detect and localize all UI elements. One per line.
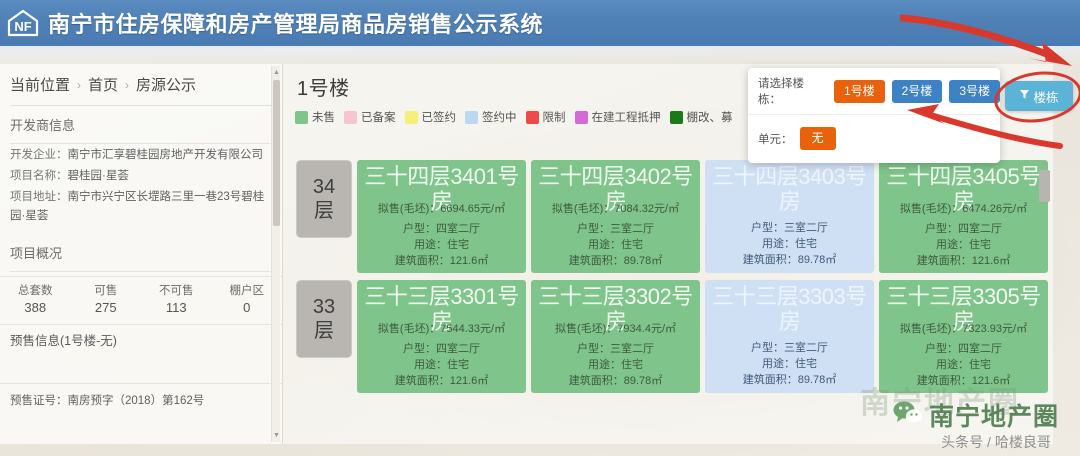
unit-area-3405: 建筑面积：121.6㎡ — [882, 253, 1045, 269]
unit-layout-3302: 户型：三室二厅 — [534, 341, 697, 357]
unit-grid: 34 层 三十四层3401号房 拟售(毛坯)：6694.65元/㎡ 户型：四室二… — [283, 160, 1053, 428]
legend-item-recorded: 已备案 — [344, 109, 396, 125]
presale-section-title: 预售信息(1号楼-无) — [0, 325, 282, 351]
unit-cell-3305[interactable]: 三十三层3305号房 拟售(毛坯)：7323.93元/㎡ 户型：四室二厅 用途：… — [879, 280, 1048, 393]
stat-total-value: 388 — [0, 299, 71, 317]
unit-area-3303: 建筑面积：89.78㎡ — [708, 372, 871, 388]
stat-available: 可售 275 — [71, 283, 142, 317]
site-title: 南宁市住房保障和房产管理局商品房销售公示系统 — [48, 7, 543, 39]
unit-price-3301: 拟售(毛坯)：7544.33元/㎡ — [360, 321, 523, 337]
legend-item-shantytown: 棚改、募 — [670, 109, 733, 125]
floor-row-33: 33 层 三十三层3301号房 拟售(毛坯)：7544.33元/㎡ 户型：四室二… — [283, 280, 1053, 393]
grid-scrollbar[interactable]: ▲ — [1039, 160, 1050, 428]
building-option-1[interactable]: 1号楼 — [834, 80, 885, 103]
presale-certificate: 预售证号：南房预字（2018）第162号 — [0, 383, 282, 408]
legend-swatch-contracted — [405, 111, 418, 124]
floor-label-34-number: 34 — [313, 175, 335, 199]
unit-layout-3403: 户型：三室二厅 — [708, 220, 871, 236]
breadcrumb: 当前位置 › 首页 › 房源公示 — [10, 64, 272, 106]
unit-layout-3301: 户型：四室二厅 — [360, 341, 523, 357]
building-option-2[interactable]: 2号楼 — [892, 80, 943, 103]
legend-swatch-recorded — [344, 111, 357, 124]
site-logo-icon: NF — [6, 8, 40, 38]
breadcrumb-separator-2: › — [125, 78, 129, 92]
floor-label-33-number: 33 — [313, 295, 335, 319]
stat-total-label: 总套数 — [0, 283, 71, 299]
legend-item-contracting: 签约中 — [465, 109, 517, 125]
legend-swatch-shantytown — [670, 111, 683, 124]
building-select-row: 请选择楼栋： 1号楼 2号楼 3号楼 — [748, 68, 1000, 115]
stat-unavailable-value: 113 — [141, 299, 212, 317]
unit-cell-3405[interactable]: 三十四层3405号房 拟售(毛坯)：6474.26元/㎡ 户型：四室二厅 用途：… — [879, 160, 1048, 273]
unit-usage-3302: 用途：住宅 — [534, 357, 697, 373]
unit-usage-3405: 用途：住宅 — [882, 237, 1045, 253]
developer-field-project: 项目名称：碧桂园·星荟 — [0, 165, 282, 186]
breadcrumb-separator-1: › — [77, 78, 81, 92]
unit-layout-3402: 户型：三室二厅 — [534, 221, 697, 237]
developer-field-address: 项目地址：南宁市兴宁区长堽路三里一巷23号碧桂园·星荟 — [0, 186, 282, 226]
developer-field-company-value: 南宁市汇享碧桂园房地产开发有限公司 — [68, 149, 264, 161]
unit-usage-3403: 用途：住宅 — [708, 236, 871, 252]
developer-field-project-value: 碧桂园·星荟 — [68, 170, 129, 182]
legend-swatch-restricted — [526, 111, 539, 124]
legend-label-contracting: 签约中 — [482, 109, 517, 125]
unit-usage-3305: 用途：住宅 — [882, 357, 1045, 373]
unit-price-3405: 拟售(毛坯)：6474.26元/㎡ — [882, 201, 1045, 217]
building-selector-popup: 请选择楼栋： 1号楼 2号楼 3号楼 单元： 无 — [748, 68, 1000, 163]
unit-option-none[interactable]: 无 — [800, 127, 836, 150]
grid-scroll-thumb[interactable] — [1039, 170, 1050, 202]
floor-label-33-unit: 层 — [314, 319, 334, 343]
legend-item-restricted: 限制 — [526, 109, 566, 125]
legend-swatch-unsold — [295, 111, 308, 124]
unit-select-row: 单元： 无 — [748, 115, 1000, 162]
developer-field-project-key: 项目名称： — [10, 170, 68, 182]
unit-cell-3303[interactable]: 三十三层3303号房 户型：三室二厅 用途：住宅 建筑面积：89.78㎡ — [705, 280, 874, 393]
developer-field-address-key: 项目地址： — [10, 191, 68, 203]
legend-swatch-mortgaged — [575, 111, 588, 124]
funnel-icon — [1019, 89, 1030, 103]
svg-text:NF: NF — [14, 19, 31, 34]
header-fade — [0, 46, 1080, 64]
stat-unavailable-label: 不可售 — [141, 283, 212, 299]
presale-section: 预售信息(1号楼-无) — [0, 325, 282, 383]
left-scroll-up-icon[interactable]: ▲ — [273, 68, 280, 77]
unit-price-3305: 拟售(毛坯)：7323.93元/㎡ — [882, 321, 1045, 337]
unit-cell-3403[interactable]: 三十四层3403号房 户型：三室二厅 用途：住宅 建筑面积：89.78㎡ — [705, 160, 874, 273]
unit-layout-3401: 户型：四室二厅 — [360, 221, 523, 237]
project-stats: 总套数 388 可售 275 不可售 113 棚户区 0 — [0, 276, 282, 325]
unit-area-3401: 建筑面积：121.6㎡ — [360, 253, 523, 269]
legend-label-contracted: 已签约 — [422, 109, 457, 125]
developer-field-company-key: 开发企业： — [10, 149, 68, 161]
legend-label-mortgaged: 在建工程抵押 — [592, 109, 661, 125]
unit-usage-3401: 用途：住宅 — [360, 237, 523, 253]
unit-area-3403: 建筑面积：89.78㎡ — [708, 252, 871, 268]
unit-price-3401: 拟售(毛坯)：6694.65元/㎡ — [360, 201, 523, 217]
stat-total: 总套数 388 — [0, 283, 71, 317]
overview-section-title: 项目概况 — [10, 234, 272, 272]
unit-layout-3303: 户型：三室二厅 — [708, 340, 871, 356]
unit-layout-3405: 户型：四室二厅 — [882, 221, 1045, 237]
legend-item-contracted: 已签约 — [405, 109, 457, 125]
building-filter-label: 楼栋 — [1033, 87, 1058, 106]
site-header: NF 南宁市住房保障和房产管理局商品房销售公示系统 — [0, 0, 1080, 46]
unit-usage-3301: 用途：住宅 — [360, 357, 523, 373]
unit-cell-3302[interactable]: 三十三层3302号房 拟售(毛坯)：7934.4元/㎡ 户型：三室二厅 用途：住… — [531, 280, 700, 393]
breadcrumb-label: 当前位置 — [10, 74, 70, 95]
unit-cell-3402[interactable]: 三十四层3402号房 拟售(毛坯)：7084.32元/㎡ 户型：三室二厅 用途：… — [531, 160, 700, 273]
floor-label-34[interactable]: 34 层 — [296, 160, 352, 238]
left-scroll-thumb[interactable] — [273, 80, 280, 226]
floor-label-33[interactable]: 33 层 — [296, 280, 352, 358]
unit-usage-3303: 用途：住宅 — [708, 356, 871, 372]
legend-item-unsold: 未售 — [295, 109, 335, 125]
left-panel-scrollbar[interactable]: ▲ ▼ — [271, 66, 280, 442]
unit-area-3302: 建筑面积：89.78㎡ — [534, 373, 697, 389]
unit-area-3301: 建筑面积：121.6㎡ — [360, 373, 523, 389]
stat-available-label: 可售 — [71, 283, 142, 299]
left-info-panel: 当前位置 › 首页 › 房源公示 开发商信息 开发企业：南宁市汇享碧桂园房地产开… — [0, 64, 283, 444]
building-select-label: 请选择楼栋： — [758, 75, 827, 107]
breadcrumb-item-current[interactable]: 房源公示 — [136, 74, 196, 95]
stat-unavailable: 不可售 113 — [141, 283, 212, 317]
stat-available-value: 275 — [71, 299, 142, 317]
left-scroll-down-icon[interactable]: ▼ — [273, 431, 280, 440]
building-option-3[interactable]: 3号楼 — [949, 80, 1000, 103]
watermark-source: 头条号 / 哈楼良哥 — [916, 432, 1076, 452]
legend-label-unsold: 未售 — [312, 109, 335, 125]
legend-item-mortgaged: 在建工程抵押 — [575, 109, 661, 125]
unit-cell-3301[interactable]: 三十三层3301号房 拟售(毛坯)：7544.33元/㎡ 户型：四室二厅 用途：… — [357, 280, 526, 393]
unit-select-label: 单元： — [758, 131, 793, 147]
floor-row-34: 34 层 三十四层3401号房 拟售(毛坯)：6694.65元/㎡ 户型：四室二… — [283, 160, 1053, 273]
developer-section-title: 开发商信息 — [10, 106, 272, 144]
floor-label-34-unit: 层 — [314, 199, 334, 223]
unit-layout-3305: 户型：四室二厅 — [882, 341, 1045, 357]
developer-field-company: 开发企业：南宁市汇享碧桂园房地产开发有限公司 — [0, 144, 282, 165]
unit-area-3402: 建筑面积：89.78㎡ — [534, 253, 697, 269]
building-filter-button[interactable]: 楼栋 — [1005, 81, 1073, 111]
breadcrumb-item-home[interactable]: 首页 — [88, 74, 118, 95]
unit-cell-3401[interactable]: 三十四层3401号房 拟售(毛坯)：6694.65元/㎡ 户型：四室二厅 用途：… — [357, 160, 526, 273]
developer-info-list: 开发企业：南宁市汇享碧桂园房地产开发有限公司 项目名称：碧桂园·星荟 项目地址：… — [0, 144, 282, 234]
unit-price-3402: 拟售(毛坯)：7084.32元/㎡ — [534, 201, 697, 217]
unit-title-3403: 三十四层3403号房 — [708, 164, 871, 214]
legend-label-restricted: 限制 — [543, 109, 566, 125]
unit-price-3302: 拟售(毛坯)：7934.4元/㎡ — [534, 321, 697, 337]
grid-scroll-up-icon[interactable]: ▲ — [1040, 160, 1049, 169]
legend-swatch-contracting — [465, 111, 478, 124]
unit-area-3305: 建筑面积：121.6㎡ — [882, 373, 1045, 389]
unit-usage-3402: 用途：住宅 — [534, 237, 697, 253]
legend-label-shantytown: 棚改、募 — [687, 109, 733, 125]
legend-label-recorded: 已备案 — [361, 109, 396, 125]
unit-title-3303: 三十三层3303号房 — [708, 284, 871, 334]
